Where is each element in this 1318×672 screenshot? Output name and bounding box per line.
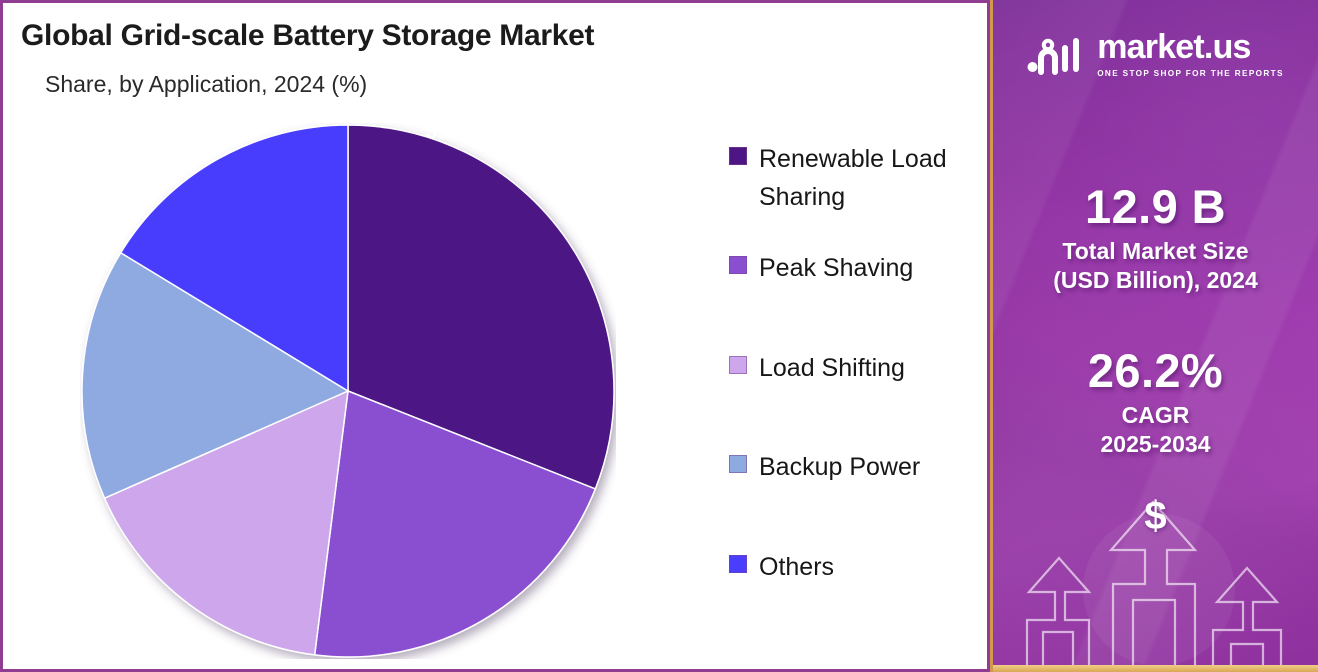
pie-slice-label-renewable-load-sharing: 31%: [426, 123, 470, 144]
legend-item-load-shifting[interactable]: Load Shifting: [729, 350, 987, 388]
panel-bottom-accent-bar: [993, 665, 1318, 672]
brand-stats-panel: $ market.us ONE STOP SHOP FOR THE REPORT…: [990, 0, 1318, 672]
page-title: Global Grid-scale Battery Storage Market: [21, 19, 594, 53]
brand-logo[interactable]: market.us ONE STOP SHOP FOR THE REPORTS: [993, 30, 1318, 78]
legend-swatch-icon: [729, 256, 747, 274]
pie-chart-svg: 31%: [80, 123, 616, 659]
stat-value: 12.9 B: [993, 182, 1318, 231]
logo-wordmark: market.us: [1097, 30, 1284, 64]
logo-tagline: ONE STOP SHOP FOR THE REPORTS: [1097, 69, 1284, 78]
legend-swatch-icon: [729, 356, 747, 374]
stat-cagr: 26.2% CAGR 2025-2034: [993, 346, 1318, 459]
stat-caption-line1: CAGR: [993, 401, 1318, 430]
page-subtitle: Share, by Application, 2024 (%): [45, 71, 367, 98]
legend-item-peak-shaving[interactable]: Peak Shaving: [729, 250, 987, 288]
legend-label: Renewable Load Sharing: [759, 141, 987, 216]
legend-label: Load Shifting: [759, 350, 905, 388]
pie-chart: 31%: [80, 123, 616, 659]
market-us-logo-icon: [1027, 32, 1085, 76]
stat-caption-line2: 2025-2034: [993, 430, 1318, 459]
legend-item-renewable-load-sharing[interactable]: Renewable Load Sharing: [729, 141, 987, 216]
stat-caption-line1: Total Market Size: [993, 237, 1318, 266]
legend-label: Others: [759, 549, 834, 587]
legend-swatch-icon: [729, 147, 747, 165]
arrow-up-left-icon: [1027, 558, 1089, 672]
stat-value: 26.2%: [993, 346, 1318, 395]
logo-text-block: market.us ONE STOP SHOP FOR THE REPORTS: [1097, 30, 1284, 78]
legend-swatch-icon: [729, 555, 747, 573]
legend-item-others[interactable]: Others: [729, 549, 987, 587]
stat-total-market-size: 12.9 B Total Market Size (USD Billion), …: [993, 182, 1318, 295]
chart-panel: Global Grid-scale Battery Storage Market…: [0, 0, 990, 672]
legend-label: Backup Power: [759, 449, 920, 487]
infographic-canvas: Global Grid-scale Battery Storage Market…: [0, 0, 1318, 672]
dollar-sign-icon: $: [993, 496, 1318, 536]
legend-label: Peak Shaving: [759, 250, 913, 288]
pie-slices: [82, 125, 614, 657]
chart-legend: Renewable Load Sharing Peak Shaving Load…: [729, 141, 987, 586]
legend-item-backup-power[interactable]: Backup Power: [729, 449, 987, 487]
stat-caption-line2: (USD Billion), 2024: [993, 266, 1318, 295]
legend-swatch-icon: [729, 455, 747, 473]
